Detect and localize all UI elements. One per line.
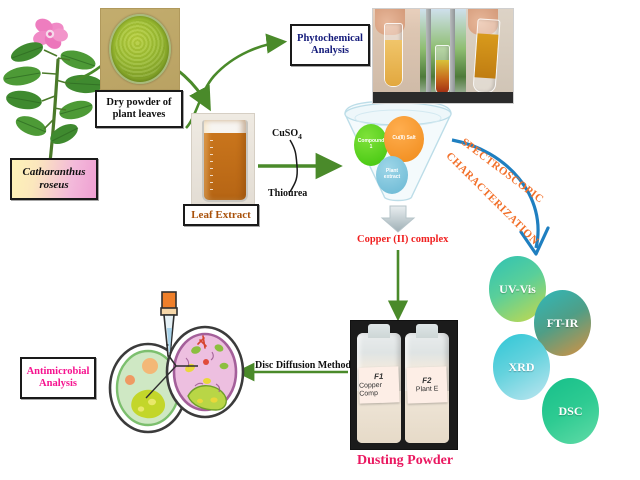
funnel-bubbles-group: Compound 1 Cu(II) Salt Plant extract bbox=[338, 110, 458, 220]
bottle-neck-1 bbox=[368, 324, 390, 338]
reagent-cuso4: CuSO4 bbox=[272, 128, 302, 141]
cuso4-text: CuSO bbox=[272, 128, 298, 139]
bottle-code-1: F1 bbox=[374, 372, 384, 382]
tube-pane-2 bbox=[420, 9, 467, 103]
tube-caption-3 bbox=[466, 92, 513, 103]
beaker-glass bbox=[202, 120, 248, 202]
label-antimicrobial-analysis: Antimicrobial Analysis bbox=[20, 357, 96, 399]
petri-dish-illustration bbox=[110, 292, 243, 432]
reagent-thiourea: Thiourea bbox=[268, 188, 307, 199]
label-dry-powder: Dry powder of plant leaves bbox=[95, 90, 183, 128]
bottle-neck-2 bbox=[416, 324, 438, 338]
antimicrobial-line2: Analysis bbox=[39, 378, 77, 390]
chip-dsc[interactable]: DSC bbox=[542, 378, 599, 444]
figure-canvas: F1 Copper Comp F2 Plant E Compound 1 Cu(… bbox=[0, 0, 640, 480]
catharanthus-line2: roseus bbox=[39, 179, 68, 192]
photo-dusting-powder-bottles: F1 Copper Comp F2 Plant E bbox=[350, 320, 458, 450]
tube-pane-1 bbox=[373, 9, 420, 103]
tube-stand-left bbox=[426, 9, 431, 103]
tube-caption-1 bbox=[373, 92, 420, 103]
dry-powder-line1: Dry powder of bbox=[106, 97, 171, 109]
reaction-arrow-group bbox=[258, 140, 336, 192]
phyto-line1: Phytochemical bbox=[297, 33, 363, 45]
bubble-plant-extract: Plant extract bbox=[376, 156, 408, 194]
photo-dry-powder-petri bbox=[100, 8, 180, 90]
test-tube-2 bbox=[435, 45, 450, 95]
plant-illustration bbox=[2, 16, 104, 162]
tube-pane-3 bbox=[466, 9, 513, 103]
chip-xrd[interactable]: XRD bbox=[493, 334, 550, 400]
photo-leaf-extract-beaker bbox=[191, 113, 255, 205]
label-catharanthus-roseus: Catharanthus roseus bbox=[10, 158, 98, 200]
bottle-label-1: F1 Copper Comp bbox=[358, 366, 399, 403]
bottle-label-2: F2 Plant E bbox=[406, 366, 447, 403]
leaf-extract-text: Leaf Extract bbox=[191, 209, 251, 222]
test-tube-1 bbox=[384, 23, 403, 87]
tube-caption-2 bbox=[420, 92, 467, 103]
tube-stand-right bbox=[450, 9, 455, 103]
antimicrobial-line1: Antimicrobial bbox=[27, 366, 90, 378]
dry-powder-line2: plant leaves bbox=[113, 109, 166, 121]
label-leaf-extract: Leaf Extract bbox=[183, 204, 259, 226]
bottle-text-2: Plant E bbox=[416, 385, 439, 394]
label-dusting-powder: Dusting Powder bbox=[357, 453, 453, 469]
bottle-text-1: Copper Comp bbox=[359, 381, 400, 398]
bottle-f2: F2 Plant E bbox=[405, 333, 449, 443]
test-tube-3 bbox=[473, 18, 501, 93]
phyto-line2: Analysis bbox=[311, 45, 349, 57]
photo-phytochemical-test-tubes bbox=[372, 8, 514, 104]
green-powder-dish bbox=[109, 14, 171, 84]
bottle-code-2: F2 bbox=[422, 376, 432, 386]
label-phytochemical-analysis: Phytochemical Analysis bbox=[290, 24, 370, 66]
cuso4-subscript: 4 bbox=[298, 132, 302, 141]
bottle-f1: F1 Copper Comp bbox=[357, 333, 401, 443]
catharanthus-line1: Catharanthus bbox=[23, 166, 86, 179]
label-disc-diffusion-method: Disc Diffusion Method bbox=[255, 360, 351, 371]
label-copper-complex: Copper (II) complex bbox=[357, 234, 448, 245]
